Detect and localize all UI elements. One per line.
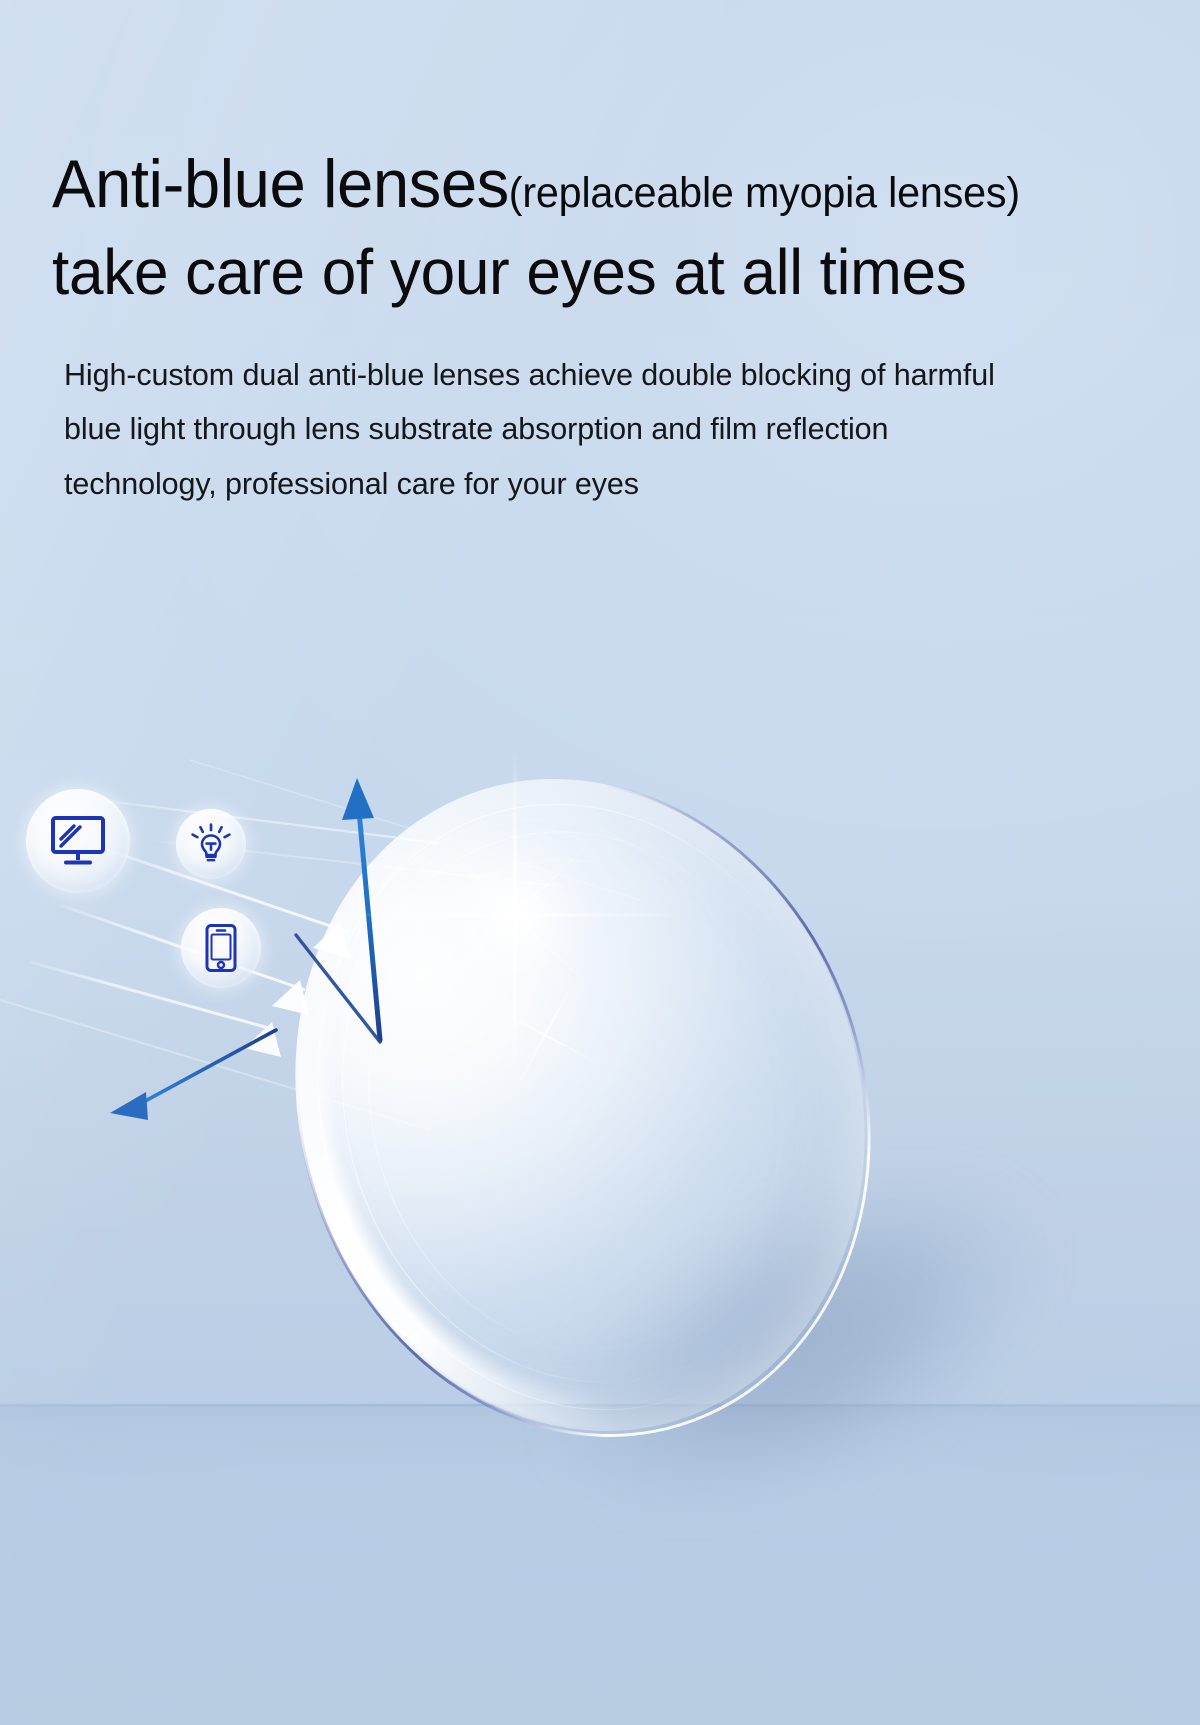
- headline-line-2: take care of your eyes at all times: [52, 240, 1080, 304]
- ray-arrowhead-1: [313, 922, 349, 958]
- badge-monitor: [26, 789, 130, 893]
- reflected-ray-down-line: [136, 1030, 276, 1106]
- sparkle-core: [425, 825, 605, 1005]
- sparkle-ray-vertical: [513, 750, 517, 1080]
- lens-body: [216, 708, 944, 1503]
- headline-line-1: Anti-blue lenses(replaceable myopia lens…: [52, 150, 1070, 218]
- monitor-icon: [49, 815, 107, 867]
- poster-canvas: Anti-blue lenses(replaceable myopia lens…: [0, 0, 1200, 1725]
- lens-contour-ring-1: [244, 738, 919, 1477]
- badge-lightbulb: [176, 809, 246, 879]
- lens-contour-ring-2: [275, 771, 890, 1443]
- smartphone-icon: [204, 923, 238, 973]
- reflected-ray-down-arrowhead: [110, 1092, 148, 1120]
- sparkle-ray-diagonal-1: [439, 841, 591, 988]
- body-paragraph: High-custom dual anti-blue lenses achiev…: [64, 348, 1014, 511]
- light-ray-faint-2: [190, 760, 640, 900]
- sparkle2-ray-b: [487, 1004, 603, 1067]
- tabletop-surface: [0, 1405, 1200, 1725]
- ray-arrowhead-3: [244, 1022, 281, 1057]
- headline-main-text: Anti-blue lenses: [52, 146, 509, 222]
- lens-sparkle-secondary: [470, 960, 620, 1110]
- lens-sparkle-primary: [345, 745, 685, 1085]
- light-ray-faint-1: [0, 1000, 430, 1130]
- lens-bright-limb: [216, 708, 944, 1503]
- headline-parenthetical: (replaceable myopia lenses): [509, 169, 1020, 217]
- lens-rim-edge: [215, 707, 951, 1509]
- reflected-ray-in-line: [296, 935, 380, 1042]
- sparkle-ray-horizontal: [350, 914, 680, 917]
- horizon-line: [0, 1404, 1200, 1406]
- ray-arrowhead-2: [272, 980, 309, 1015]
- badge-smartphone: [181, 908, 261, 988]
- sparkle-ray-diagonal-2: [439, 841, 591, 988]
- lens-contour-ring-3: [308, 805, 858, 1408]
- reflected-ray-up-line: [358, 800, 380, 1040]
- headline-block: Anti-blue lenses(replaceable myopia lens…: [52, 150, 1112, 511]
- reflected-ray-up-arrowhead: [342, 778, 374, 820]
- sparkle2-ray-a: [514, 977, 577, 1093]
- lightbulb-icon: [190, 823, 232, 865]
